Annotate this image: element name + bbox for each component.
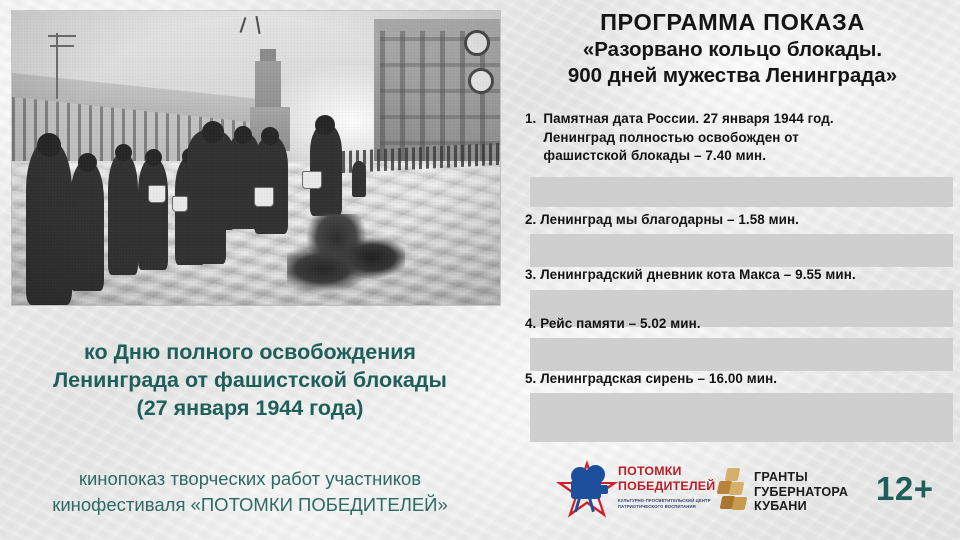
event-caption-line2: Ленинграда от фашистской блокады — [0, 366, 500, 394]
presentation-slide: ПРОГРАММА ПОКАЗА «Разорвано кольцо блока… — [0, 0, 960, 540]
photo-round-sign-upper — [464, 30, 490, 56]
photo-figure-head — [315, 115, 335, 135]
program-title-main: ПРОГРАММА ПОКАЗА — [505, 8, 960, 37]
wheat-grain-icon — [732, 497, 748, 510]
photo-bucket — [254, 187, 274, 207]
photo-lamp-arm-upper — [48, 35, 76, 37]
photo-figure-head — [37, 133, 61, 157]
festival-caption: кинопоказ творческих работ участников ки… — [0, 466, 500, 518]
event-caption-line1: ко Дню полного освобождения — [0, 338, 500, 366]
program-band-2 — [530, 234, 953, 267]
photo-lamp-arm-lower — [50, 45, 74, 47]
photo-figure-head — [234, 126, 252, 144]
photo-bucket — [172, 196, 188, 212]
photo-figure-head — [78, 153, 97, 172]
wheat-grain-icon — [729, 482, 745, 495]
photo-figure-standing — [310, 124, 342, 216]
photo-figure — [108, 153, 138, 275]
program-title: ПРОГРАММА ПОКАЗА «Разорвано кольцо блока… — [505, 8, 960, 89]
program-item-3: 3. Ленинградский дневник кота Макса – 9.… — [525, 266, 856, 285]
photo-figure-head — [261, 127, 279, 145]
red-star-icon — [556, 460, 618, 522]
program-item-4: 4. Рейс памяти – 5.02 мин. — [525, 315, 701, 334]
photo-bucket — [148, 185, 166, 203]
film-camera-lens-icon — [599, 485, 608, 494]
program-title-sub-line1: «Разорвано кольцо блокады. — [505, 37, 960, 63]
program-band-5 — [530, 393, 953, 442]
photo-figure — [138, 158, 168, 270]
potomki-pobediteley-logo: ПОТОМКИ ПОБЕДИТЕЛЕЙ КУЛЬТУРНО-ПРОСВЕТИТЕ… — [556, 458, 706, 532]
blockade-leningrad-photo — [12, 11, 500, 305]
granty-logo-line2: ГУБЕРНАТОРА — [754, 485, 864, 500]
photo-figure-head — [202, 121, 224, 143]
program-item-1-line3: фашистской блокады – 7.40 мин. — [543, 147, 945, 166]
potomki-logo-line2: ПОБЕДИТЕЛЕЙ — [618, 479, 708, 494]
granty-logo-text: ГРАНТЫ ГУБЕРНАТОРА КУБАНИ — [754, 470, 864, 514]
photo-rubble-debris — [287, 214, 405, 292]
program-item-5: 5. Ленинградская сирень – 16.00 мин. — [525, 370, 777, 389]
granty-logo-line3: КУБАНИ — [754, 499, 864, 514]
program-band-1 — [530, 177, 953, 207]
photo-round-sign-lower — [468, 68, 494, 94]
potomki-logo-sub2: ПАТРИОТИЧЕСКОГО ВОСПИТАНИЯ — [618, 504, 708, 510]
photo-figure-head — [145, 149, 162, 166]
photo-lamp-post — [56, 33, 58, 99]
granty-logo-line1: ГРАНТЫ — [754, 470, 864, 485]
program-band-4 — [530, 338, 953, 371]
potomki-logo-text: ПОТОМКИ ПОБЕДИТЕЛЕЙ КУЛЬТУРНО-ПРОСВЕТИТЕ… — [618, 464, 708, 510]
photo-figure — [26, 141, 72, 305]
program-item-1-line1: Памятная дата России. 27 января 1944 год… — [543, 110, 945, 129]
event-caption: ко Дню полного освобождения Ленинграда о… — [0, 338, 500, 422]
film-camera-icon — [571, 480, 601, 499]
photo-figure — [254, 136, 288, 234]
program-item-1-text: Памятная дата России. 27 января 1944 год… — [543, 110, 945, 166]
photo-figure-head — [115, 144, 132, 161]
wheat-sheaf-icon — [714, 468, 748, 516]
photo-figure-distant — [352, 161, 366, 197]
program-item-2: 2. Ленинград мы благодарны – 1.58 мин. — [525, 211, 799, 230]
photo-bucket — [302, 171, 322, 189]
wheat-grain-icon — [725, 468, 741, 481]
granty-gubernatora-kubani-logo: ГРАНТЫ ГУБЕРНАТОРА КУБАНИ — [714, 466, 864, 526]
program-title-sub-line2: 900 дней мужества Ленинграда» — [505, 63, 960, 89]
photo-figure — [70, 161, 104, 291]
potomki-logo-line1: ПОТОМКИ — [618, 464, 708, 479]
program-item-1-number: 1. — [525, 110, 536, 129]
program-item-1-line2: Ленинград полностью освобожден от — [543, 129, 945, 148]
program-item-1: 1. Памятная дата России. 27 января 1944 … — [525, 110, 945, 166]
festival-caption-line1: кинопоказ творческих работ участников — [0, 466, 500, 492]
festival-caption-line2: кинофестиваля «ПОТОМКИ ПОБЕДИТЕЛЕЙ» — [0, 492, 500, 518]
age-rating-badge: 12+ — [876, 470, 933, 508]
event-caption-line3: (27 января 1944 года) — [0, 394, 500, 422]
